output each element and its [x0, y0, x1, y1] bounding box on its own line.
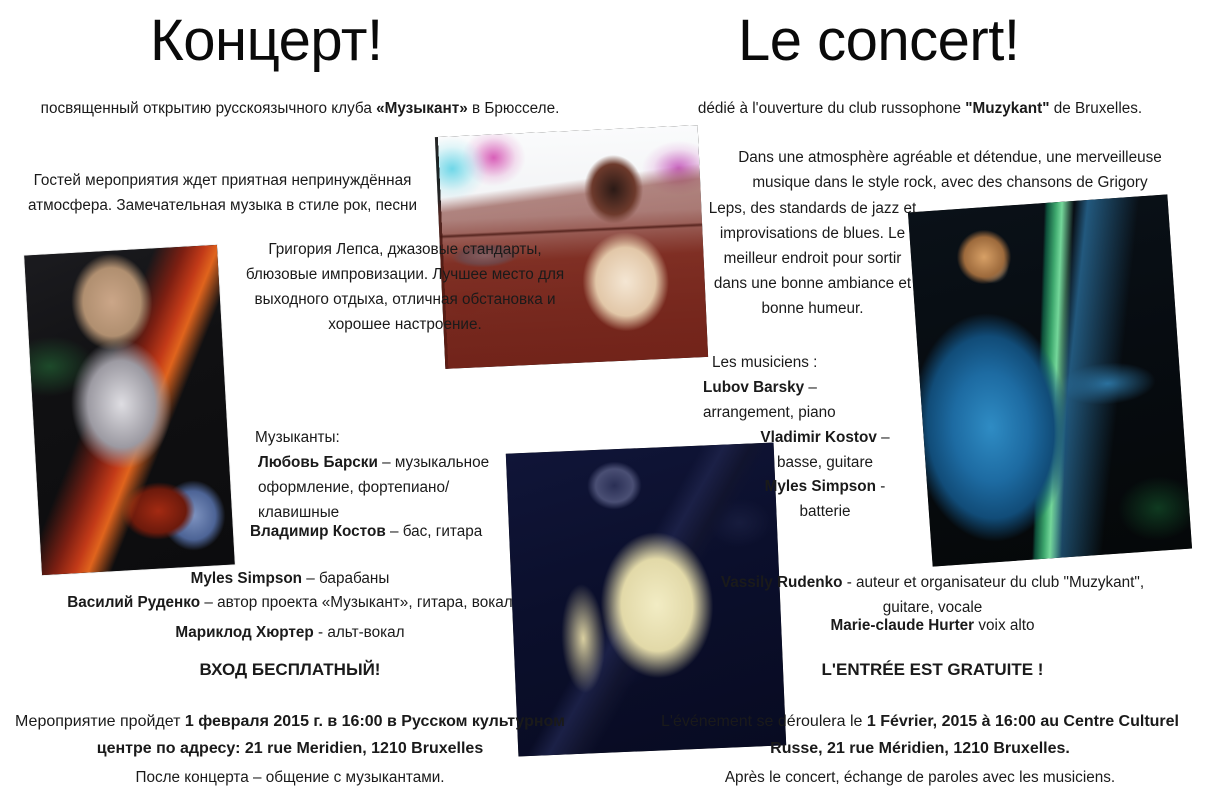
russian-musician-1-name: Любовь Барски — [258, 454, 378, 471]
french-musician-4-role: - auteur et organisateur du club "Muzyka… — [842, 574, 1144, 616]
subtitle-french-part2: de Bruxelles. — [1049, 100, 1142, 117]
french-musician-1: Lubov Barsky – arrangement, piano — [703, 375, 883, 425]
french-musicians-heading: Les musiciens : — [712, 350, 952, 375]
subtitle-russian-part1: посвященный открытию русскоязычного клуб… — [41, 100, 376, 117]
french-musician-2-name: Vladimir Kostov — [760, 429, 876, 446]
photo-guitarist-vocalist — [24, 245, 235, 575]
russian-event-details: Мероприятие пройдет 1 февраля 2015 г. в … — [10, 708, 570, 762]
russian-musician-4: Василий Руденко – автор проекта «Музыкан… — [10, 590, 570, 615]
photo-pianist — [908, 194, 1192, 566]
french-after-note: Après le concert, échange de paroles ave… — [640, 765, 1200, 790]
russian-musician-2-role: – бас, гитара — [390, 523, 482, 540]
russian-free-entry: ВХОД БЕСПЛАТНЫЙ! — [60, 657, 520, 682]
french-event-prefix: L'événement se déroulera le — [661, 713, 867, 730]
french-musician-5: Marie-claude Hurter voix alto — [700, 613, 1165, 638]
subtitle-russian: посвященный открытию русскоязычного клуб… — [30, 96, 570, 121]
french-musician-3-role: batterie — [799, 503, 850, 520]
french-musician-5-name: Marie-claude Hurter — [830, 617, 974, 634]
russian-paragraph-1: Гостей мероприятия ждет приятная неприну… — [10, 168, 435, 218]
subtitle-french: dédié à l'ouverture du club russophone "… — [640, 96, 1200, 121]
title-french: Le concert! — [738, 12, 1019, 70]
russian-musician-3-name: Myles Simpson — [191, 570, 302, 587]
french-musician-4-name: Vassily Rudenko — [721, 574, 843, 591]
russian-musician-5-name: Мариклод Хюртер — [175, 624, 313, 641]
french-musician-3-dash: - — [876, 478, 885, 495]
subtitle-russian-club: «Музыкант» — [376, 100, 468, 117]
russian-musician-1: Любовь Барски – музыкальное оформление, … — [258, 450, 510, 525]
french-musician-2-dash: – — [877, 429, 890, 446]
french-musician-1-name: Lubov Barsky — [703, 379, 804, 396]
french-free-entry: L'ENTRÉE EST GRATUITE ! — [700, 657, 1165, 682]
russian-musician-3-role: – барабаны — [302, 570, 389, 587]
title-russian: Концерт! — [150, 12, 383, 70]
russian-musician-5: Мариклод Хюртер - альт-вокал — [40, 620, 540, 645]
russian-musician-2-name: Владимир Костов — [250, 523, 390, 540]
french-musician-3-name: Myles Simpson — [765, 478, 876, 495]
russian-event-prefix: Мероприятие пройдет — [15, 713, 185, 730]
russian-paragraph-2: Григория Лепса, джазовые стандарты, блюз… — [245, 237, 565, 337]
russian-musician-4-role: – автор проекта «Музыкант», гитара, вока… — [200, 594, 513, 611]
russian-musician-4-name: Василий Руденко — [67, 594, 200, 611]
french-paragraph-2: Leps, des standards de jazz et improvisa… — [705, 196, 920, 321]
french-musician-2-role: basse, guitare — [777, 454, 873, 471]
russian-musicians-heading: Музыканты: — [255, 425, 555, 450]
french-paragraph-1: Dans une atmosphère agréable et détendue… — [720, 145, 1180, 195]
french-event-details: L'événement se déroulera le 1 Février, 2… — [640, 708, 1200, 762]
russian-musician-5-role: - альт-вокал — [314, 624, 405, 641]
concert-poster: Концерт! Le concert! посвященный открыти… — [0, 0, 1213, 798]
subtitle-french-part1: dédié à l'ouverture du club russophone — [698, 100, 965, 117]
french-musician-5-role: voix alto — [974, 617, 1034, 634]
subtitle-french-club: "Muzykant" — [965, 100, 1049, 117]
photo-pianist-image — [908, 194, 1192, 566]
french-musician-2: Vladimir Kostov –basse, guitare — [760, 425, 890, 475]
photo-guitarist-image — [24, 245, 235, 575]
russian-musician-2: Владимир Костов – бас, гитара — [250, 519, 515, 544]
french-musician-3: Myles Simpson -batterie — [760, 474, 890, 524]
russian-after-note: После концерта – общение с музыкантами. — [10, 765, 570, 790]
russian-musician-3: Myles Simpson – барабаны — [60, 566, 520, 591]
subtitle-russian-part2: в Брюсселе. — [468, 100, 560, 117]
